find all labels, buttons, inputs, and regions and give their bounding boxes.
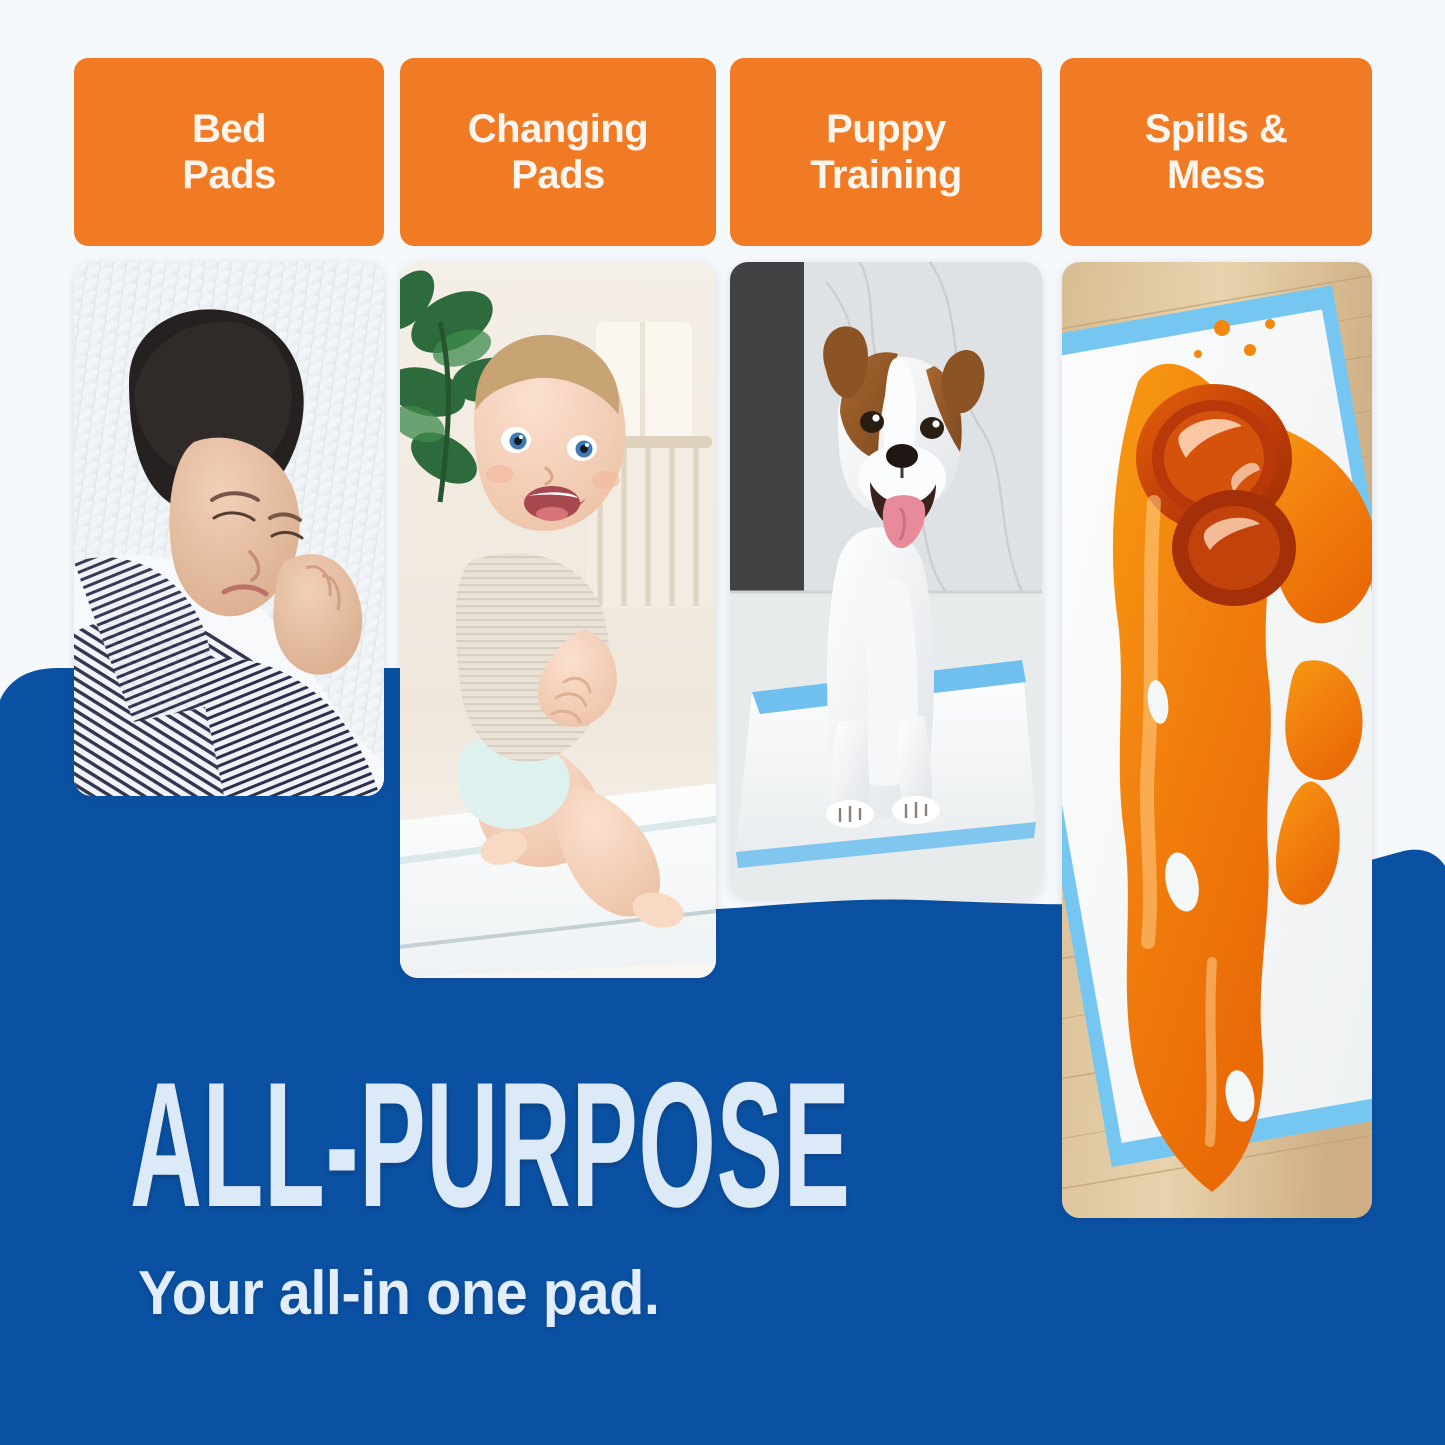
- chip-label-line2: Training: [810, 152, 962, 198]
- page-subtitle: Your all-in one pad.: [138, 1263, 1061, 1325]
- chip-changing-pads[interactable]: Changing Pads: [400, 58, 716, 246]
- chip-bed-pads[interactable]: Bed Pads: [74, 58, 384, 246]
- chip-label-line2: Pads: [468, 152, 648, 198]
- headline-block: ALL-PURPOSE Your all-in one pad.: [130, 1068, 1130, 1325]
- photo-card-changing-pads: [400, 262, 716, 978]
- baby-on-changing-pad-photo: [400, 262, 716, 978]
- chip-label-line1: Puppy: [810, 106, 962, 152]
- chip-label-line2: Mess: [1145, 152, 1288, 198]
- photo-card-bed-pads: [74, 262, 384, 796]
- chip-label-line1: Spills &: [1145, 106, 1288, 152]
- promo-graphic: Bed Pads Changing Pads Puppy Training Sp…: [0, 0, 1445, 1445]
- chip-label-line1: Changing: [468, 106, 648, 152]
- woman-sleeping-on-bed-pad-photo: [74, 262, 384, 796]
- page-title: ALL-PURPOSE: [130, 1068, 690, 1221]
- chip-label-line2: Pads: [182, 152, 276, 198]
- photo-card-puppy-training: [730, 262, 1042, 898]
- chip-puppy-training[interactable]: Puppy Training: [730, 58, 1042, 246]
- chip-label-line1: Bed: [182, 106, 276, 152]
- puppy-on-training-pad-photo: [730, 262, 1042, 898]
- chip-spills-mess[interactable]: Spills & Mess: [1060, 58, 1372, 246]
